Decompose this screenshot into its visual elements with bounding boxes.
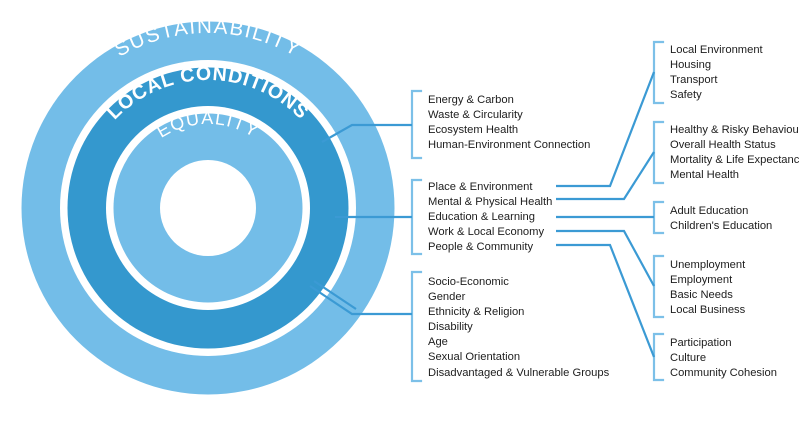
list-item: Ethnicity & Religion [428, 305, 609, 320]
list-item: Culture [670, 351, 777, 366]
list-item: Adult Education [670, 204, 772, 219]
bracket-local-conditions-themes [412, 180, 421, 254]
list-sustainability-themes: Energy & Carbon Waste & Circularity Ecos… [428, 93, 590, 153]
list-education-learning-indicators: Adult Education Children's Education [670, 204, 772, 234]
list-item: Transport [670, 73, 763, 88]
list-item: Gender [428, 290, 609, 305]
list-item: Work & Local Economy [428, 225, 552, 240]
bracket-place-environment [654, 42, 663, 103]
link-ring-to-sustainability [322, 125, 412, 142]
link-mental-physical-health [556, 152, 654, 199]
list-item: Ecosystem Health [428, 123, 590, 138]
list-item: Participation [670, 336, 777, 351]
list-item: Disadvantaged & Vulnerable Groups [428, 366, 609, 381]
list-equality-themes: Socio-Economic Gender Ethnicity & Religi… [428, 275, 609, 381]
list-item: Unemployment [670, 258, 745, 273]
list-item: Waste & Circularity [428, 108, 590, 123]
bracket-work-local-economy [654, 256, 663, 317]
link-ring-to-equality [310, 286, 412, 314]
diagram-canvas: SUSTAINABILITY LOCAL CONDITIONS EQUALITY [0, 0, 799, 434]
list-item: Age [428, 335, 609, 350]
bracket-education-learning [654, 202, 663, 233]
list-item: Basic Needs [670, 288, 745, 303]
list-item: Human-Environment Connection [428, 138, 590, 153]
list-item: Disability [428, 320, 609, 335]
list-item: People & Community [428, 240, 552, 255]
list-item: Safety [670, 88, 763, 103]
bracket-people-community [654, 334, 663, 380]
list-item: Local Business [670, 303, 745, 318]
list-item: Socio-Economic [428, 275, 609, 290]
list-item: Overall Health Status [670, 138, 799, 153]
list-mental-physical-health-indicators: Healthy & Risky Behaviours Overall Healt… [670, 123, 799, 183]
link-ring-to-equality-2 [314, 281, 356, 309]
bracket-equality-themes [412, 272, 421, 381]
list-local-conditions-themes: Place & Environment Mental & Physical He… [428, 180, 552, 255]
list-item: Education & Learning [428, 210, 552, 225]
list-item: Employment [670, 273, 745, 288]
list-item: Place & Environment [428, 180, 552, 195]
list-item: Mortality & Life Expectancy [670, 153, 799, 168]
list-item: Mental Health [670, 168, 799, 183]
list-item: Local Environment [670, 43, 763, 58]
list-item: Sexual Orientation [428, 350, 609, 365]
bracket-mental-physical-health [654, 122, 663, 183]
list-item: Children's Education [670, 219, 772, 234]
list-people-community-indicators: Participation Culture Community Cohesion [670, 336, 777, 381]
list-item: Housing [670, 58, 763, 73]
list-item: Community Cohesion [670, 366, 777, 381]
list-item: Energy & Carbon [428, 93, 590, 108]
list-work-local-economy-indicators: Unemployment Employment Basic Needs Loca… [670, 258, 745, 318]
list-item: Healthy & Risky Behaviours [670, 123, 799, 138]
list-place-environment-indicators: Local Environment Housing Transport Safe… [670, 43, 763, 103]
list-item: Mental & Physical Health [428, 195, 552, 210]
bracket-sustainability-themes [412, 91, 421, 158]
